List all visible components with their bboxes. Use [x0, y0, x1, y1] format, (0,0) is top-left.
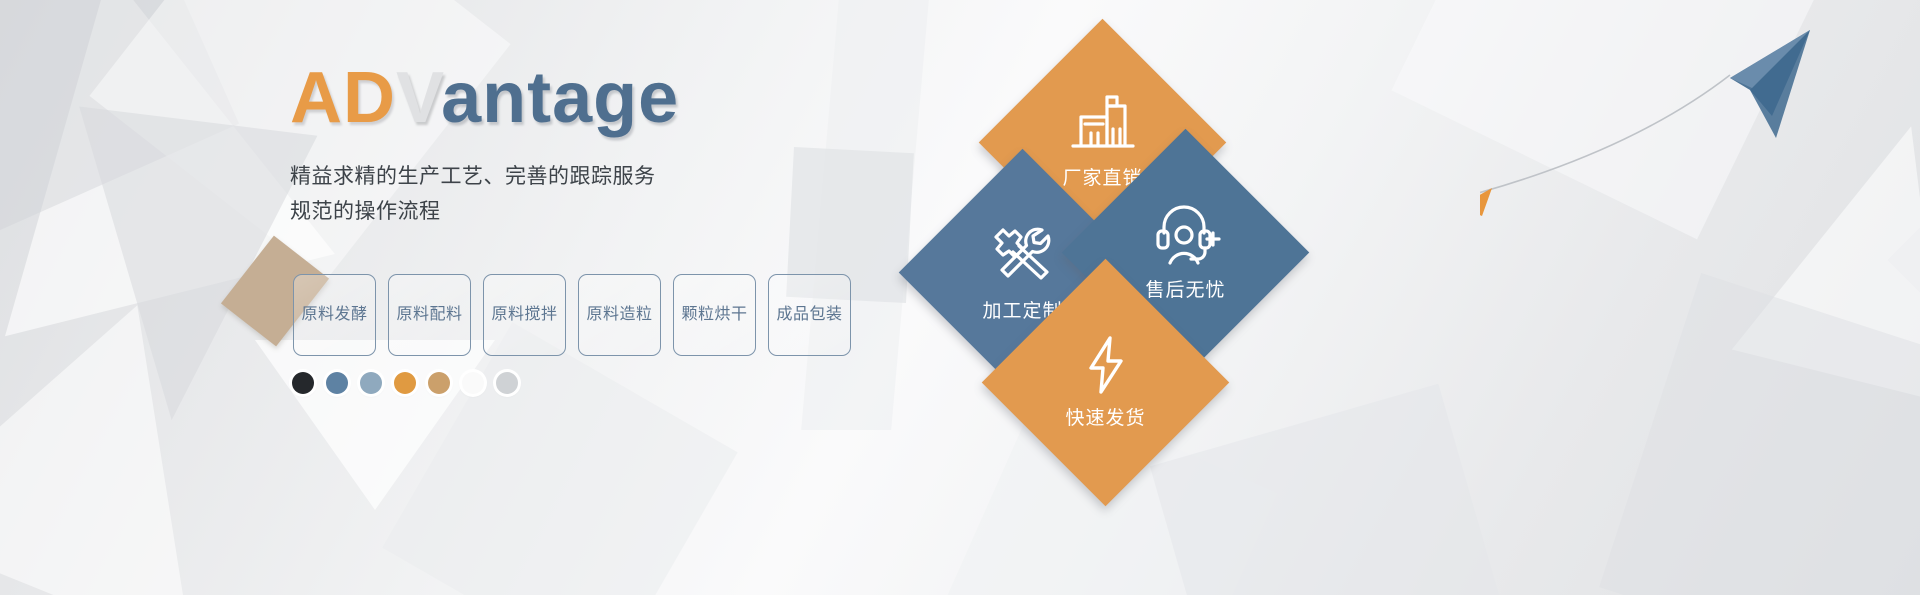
- process-step-label: 成品包装: [776, 305, 842, 325]
- process-step-label: 原料配料: [396, 305, 462, 325]
- bg-polygon-7: [1599, 273, 1920, 595]
- paper-plane-decoration: [1480, 20, 1900, 260]
- tools-icon: [986, 222, 1060, 288]
- process-step-1[interactable]: 原料发酵: [293, 274, 376, 356]
- feature-fast-shipping[interactable]: 快速发货: [982, 259, 1229, 506]
- feature-label: 快速发货: [1065, 403, 1145, 430]
- feature-diamond-cluster: 厂家直销 加工定制: [900, 10, 1320, 430]
- swatch-tan[interactable]: [428, 372, 450, 394]
- swatch-orange[interactable]: [394, 372, 416, 394]
- subtitle-line-2: 规范的操作流程: [290, 195, 910, 230]
- process-step-label: 原料搅拌: [491, 305, 557, 325]
- banner-stage: ADVantage 精益求精的生产工艺、完善的跟踪服务 规范的操作流程 原料发酵…: [0, 0, 1920, 595]
- swatch-black[interactable]: [292, 372, 314, 394]
- bg-triangle-4: [255, 340, 495, 510]
- swatch-white[interactable]: [462, 372, 484, 394]
- headset-support-icon: [1150, 203, 1222, 267]
- title-part-v: V: [396, 58, 441, 138]
- subtitle: 精益求精的生产工艺、完善的跟踪服务 规范的操作流程: [290, 160, 910, 229]
- color-swatch-list: [292, 372, 518, 394]
- swatch-steel-blue[interactable]: [326, 372, 348, 394]
- process-step-5[interactable]: 颗粒烘干: [673, 274, 756, 356]
- process-step-6[interactable]: 成品包装: [768, 274, 851, 356]
- process-step-label: 原料发酵: [301, 305, 367, 325]
- bg-polygon-3: [382, 322, 737, 595]
- lightning-bolt-icon: [1083, 335, 1129, 395]
- swatch-light-blue[interactable]: [360, 372, 382, 394]
- bg-polygon-1: [0, 0, 239, 254]
- title-part-antage: antage: [441, 58, 679, 138]
- process-step-2[interactable]: 原料配料: [388, 274, 471, 356]
- process-step-4[interactable]: 原料造粒: [578, 274, 661, 356]
- process-step-list: 原料发酵 原料配料 原料搅拌 原料造粒 颗粒烘干 成品包装: [293, 274, 851, 356]
- subtitle-line-1: 精益求精的生产工艺、完善的跟踪服务: [290, 160, 910, 195]
- page-title: ADVantage: [290, 62, 910, 134]
- process-step-label: 原料造粒: [586, 305, 652, 325]
- process-step-label: 颗粒烘干: [681, 305, 747, 325]
- left-content: ADVantage 精益求精的生产工艺、完善的跟踪服务 规范的操作流程: [290, 62, 910, 229]
- process-step-3[interactable]: 原料搅拌: [483, 274, 566, 356]
- swatch-gray[interactable]: [496, 372, 518, 394]
- factory-icon: [1067, 95, 1139, 155]
- title-part-ad: AD: [290, 58, 396, 138]
